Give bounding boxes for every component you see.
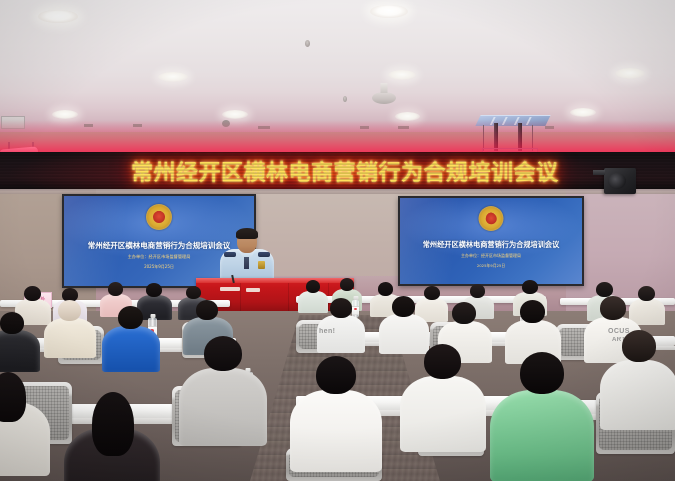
ceiling-downlight <box>158 72 188 82</box>
ceiling-fitting <box>84 124 93 127</box>
lift-arm <box>518 123 522 151</box>
ceiling-vent <box>1 116 25 129</box>
ceiling-downlight <box>615 68 645 79</box>
presenter-badge-icon <box>258 261 265 269</box>
police-emblem-icon <box>146 204 172 230</box>
ceiling-downlight <box>370 5 408 18</box>
ceiling-fitting <box>222 120 230 127</box>
ceiling-downlight <box>570 108 596 117</box>
ceiling-fitting <box>258 126 270 129</box>
presenter-tie <box>244 257 249 269</box>
smoke-detector-icon <box>305 40 310 47</box>
lift-arm <box>494 123 498 151</box>
ceiling-downlight <box>222 110 248 119</box>
ceiling-speaker <box>372 92 396 104</box>
projection-screen-right: 常州经开区横林电商营销行为合规培训会议 主办单位：经开区市场监督管理局 2025… <box>398 196 584 286</box>
led-banner: 常州经开区横林电商营销行为合规培训会议 <box>0 152 675 189</box>
ceiling-downlight <box>388 70 416 80</box>
wall-mounted-speaker <box>604 168 636 194</box>
presenter-epaulette <box>258 252 270 257</box>
table-papers <box>220 287 240 291</box>
presenter-epaulette <box>224 252 236 257</box>
slide-date: 2025年9月25日 <box>400 263 582 269</box>
ceiling-downlight <box>52 110 78 119</box>
slide-right: 常州经开区横林电商营销行为合规培训会议 主办单位：经开区市场监督管理局 2025… <box>400 198 582 284</box>
led-banner-text: 常州经开区横林电商营销行为合规培训会议 <box>131 155 559 187</box>
lift-ceiling-plate <box>475 115 550 126</box>
presenter-hair <box>236 228 258 239</box>
police-emblem-icon <box>479 206 504 231</box>
presenter <box>220 230 274 282</box>
ceiling-downlight <box>38 10 78 23</box>
slide-subtitle: 主办单位：经开区市场监督管理局 <box>400 253 582 259</box>
ceiling-fitting <box>133 124 142 127</box>
ceiling-fitting <box>398 126 409 129</box>
ceiling-fitting <box>360 126 369 129</box>
shirt-graphic-text: hen! <box>319 328 335 335</box>
smoke-detector-icon <box>343 96 347 102</box>
table-papers <box>246 288 260 292</box>
conference-room-photo: 常州经开区横林电商营销行为合规培训会议 常州经开区横林电商营销行为合规培训会议 … <box>0 0 675 481</box>
slide-title: 常州经开区横林电商营销行为合规培训会议 <box>400 240 582 250</box>
ceiling-downlight <box>395 112 420 121</box>
